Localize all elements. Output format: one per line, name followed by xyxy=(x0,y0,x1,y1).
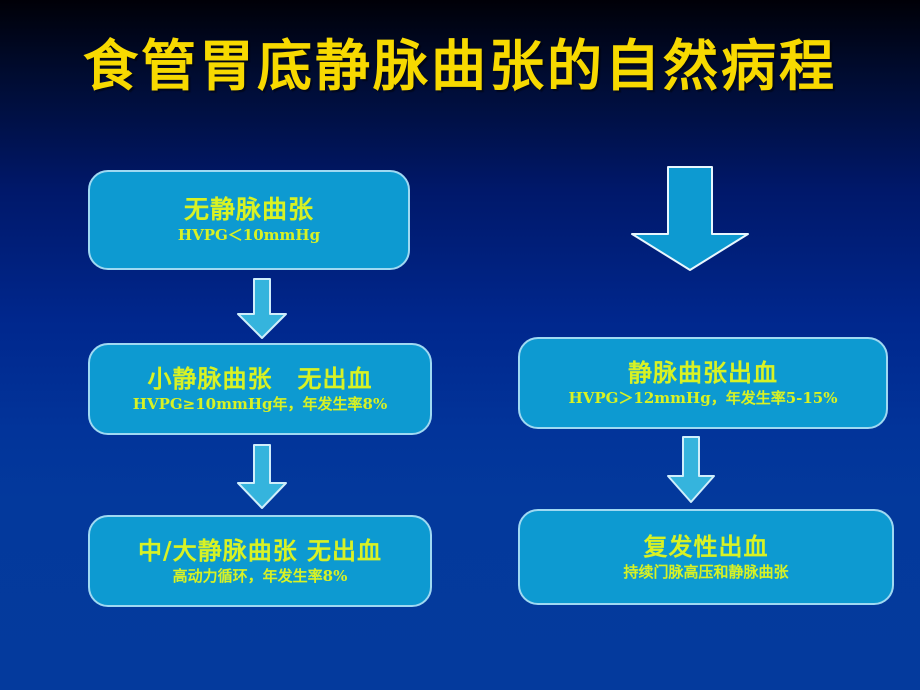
node-box-large-varices[interactable]: 中/大静脉曲张 无出血 高动力循环，年发生率8% xyxy=(88,515,432,607)
node-box-recurrent-bleeding[interactable]: 复发性出血 持续门脉高压和静脉曲张 xyxy=(518,509,894,605)
node-box-variceal-bleeding[interactable]: 静脉曲张出血 HVPG＞12mmHg，年发生率5-15% xyxy=(518,337,888,429)
arrow-down-icon xyxy=(666,436,716,504)
node-title: 无静脉曲张 xyxy=(184,196,314,225)
node-subtitle: 持续门脉高压和静脉曲张 xyxy=(623,563,788,581)
node-title: 中/大静脉曲张 无出血 xyxy=(138,537,382,565)
node-box-no-varices[interactable]: 无静脉曲张 HVPG＜10mmHg xyxy=(88,170,410,270)
node-title: 静脉曲张出血 xyxy=(628,359,778,387)
node-title: 复发性出血 xyxy=(644,533,769,561)
node-box-small-varices[interactable]: 小静脉曲张 无出血 HVPG≥10mmHg年，年发生率8% xyxy=(88,343,432,435)
node-title: 小静脉曲张 无出血 xyxy=(148,365,373,393)
page-title: 食管胃底静脉曲张的自然病程 xyxy=(0,36,920,97)
node-subtitle: HVPG＜10mmHg xyxy=(178,226,320,244)
slide-canvas: 食管胃底静脉曲张的自然病程 无静脉曲张 HVPG＜10mmHg 小静脉曲张 无出… xyxy=(0,0,920,690)
arrow-down-large-icon xyxy=(628,166,752,272)
node-subtitle: HVPG＞12mmHg，年发生率5-15% xyxy=(569,389,838,407)
node-subtitle: 高动力循环，年发生率8% xyxy=(173,567,348,585)
arrow-down-icon xyxy=(236,444,288,510)
node-subtitle: HVPG≥10mmHg年，年发生率8% xyxy=(133,395,387,413)
arrow-down-icon xyxy=(236,278,288,340)
